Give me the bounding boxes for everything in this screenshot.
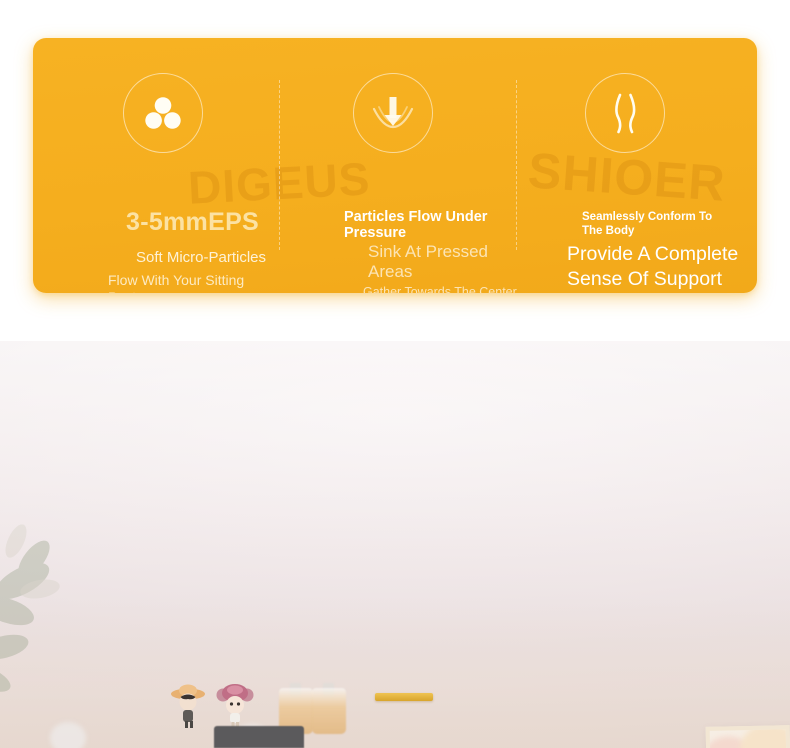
- column-divider-1: [279, 80, 281, 250]
- column-1-line-2: Flow With Your Sitting Posture: [108, 272, 244, 293]
- column-1-line-1: Soft Micro-Particles: [136, 249, 266, 266]
- column-2-line-2: Gather Towards The Center: [363, 285, 517, 293]
- column-divider-2: [516, 80, 518, 250]
- photo-headline-group: High Resilience Particles Flow Freely Co…: [0, 341, 790, 748]
- three-particles-icon: [123, 73, 203, 153]
- room-photo-section: High Resilience Particles Flow Freely Co…: [0, 341, 790, 748]
- feature-section: DIGEUS SHIOER: [0, 0, 790, 341]
- column-3-title: Seamlessly Conform To The Body: [582, 211, 712, 238]
- down-arrow-sink-icon: [353, 73, 433, 153]
- column-2-line-1: Sink At Pressed Areas: [368, 242, 488, 283]
- column-3-line-1: Provide A Complete Sense Of Support And …: [567, 242, 738, 293]
- column-1-title: 3-5mmEPS: [126, 208, 259, 237]
- column-2-title: Particles Flow Under Pressure: [344, 209, 487, 241]
- orange-feature-panel: DIGEUS SHIOER: [33, 38, 757, 293]
- body-contour-waves-icon: [585, 73, 665, 153]
